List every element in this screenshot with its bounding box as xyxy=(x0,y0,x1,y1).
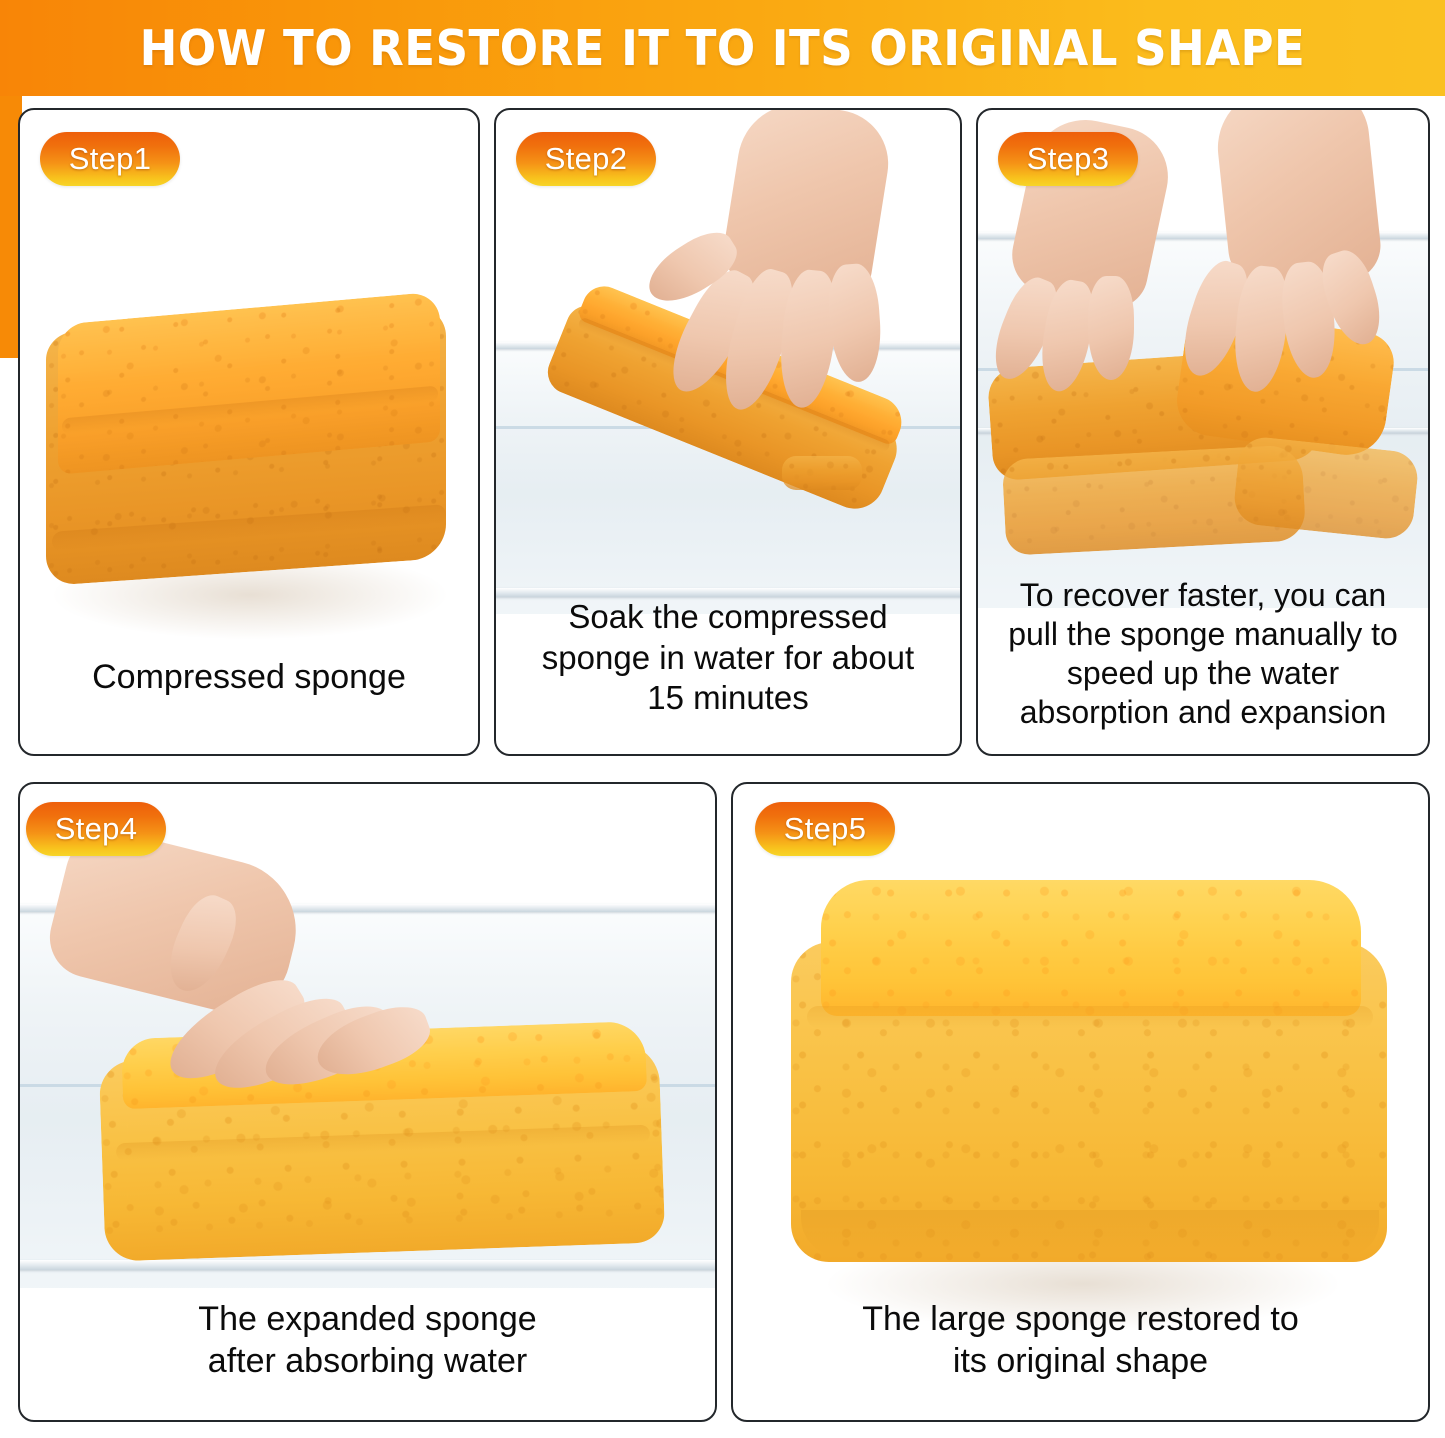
caption-line: absorption and expansion xyxy=(988,693,1418,732)
step-caption-4: The expanded sponge after absorbing wate… xyxy=(30,1299,705,1382)
steps-row-bottom: Step4 The expanded sponge after absorbin… xyxy=(18,782,1430,1422)
steps-row-top: Step1 Compressed sponge xyxy=(18,108,1430,756)
step-card-4[interactable]: Step4 The expanded sponge after absorbin… xyxy=(18,782,717,1422)
step-caption-1: Compressed sponge xyxy=(30,657,468,698)
hand-image xyxy=(674,206,934,436)
step-card-3[interactable]: Step3 To recover faster, you can pull th… xyxy=(976,108,1430,756)
infographic-page: HOW TO RESTORE IT TO ITS ORIGINAL SHAPE … xyxy=(0,0,1445,1438)
finger xyxy=(1088,276,1134,380)
caption-line: The large sponge restored to xyxy=(743,1299,1418,1340)
step-badge-4: Step4 xyxy=(26,802,166,856)
step-badge-1: Step1 xyxy=(40,132,180,186)
caption-line: The expanded sponge xyxy=(30,1299,705,1340)
step-caption-2: Soak the compressed sponge in water for … xyxy=(506,597,950,718)
step-card-2[interactable]: Step2 Soak the compressed sponge in wate… xyxy=(494,108,962,756)
tank-rim-bottom xyxy=(496,588,960,597)
hand-image xyxy=(56,868,476,1108)
caption-line: Soak the compressed xyxy=(506,597,950,637)
sponge-fragment xyxy=(782,456,862,490)
caption-line: pull the sponge manually to xyxy=(988,615,1418,654)
caption-line: after absorbing water xyxy=(30,1341,705,1382)
header-banner: HOW TO RESTORE IT TO ITS ORIGINAL SHAPE xyxy=(0,0,1445,96)
caption-line: To recover faster, you can xyxy=(988,576,1418,615)
step-caption-3: To recover faster, you can pull the spon… xyxy=(988,576,1418,732)
caption-line: speed up the water xyxy=(988,654,1418,693)
step-card-1[interactable]: Step1 Compressed sponge xyxy=(18,108,480,756)
caption-line: 15 minutes xyxy=(506,678,950,718)
hand-image-right xyxy=(1174,196,1404,416)
step-badge-5: Step5 xyxy=(755,802,895,856)
hand-image-left xyxy=(992,214,1192,414)
finger xyxy=(826,262,884,383)
step-badge-3: Step3 xyxy=(998,132,1138,186)
step-badge-2: Step2 xyxy=(516,132,656,186)
caption-line: its original shape xyxy=(743,1341,1418,1382)
page-title: HOW TO RESTORE IT TO ITS ORIGINAL SHAPE xyxy=(140,24,1306,73)
restored-sponge-image xyxy=(791,880,1391,1280)
step-card-5[interactable]: Step5 The large sponge restored to its o… xyxy=(731,782,1430,1422)
caption-line: sponge in water for about xyxy=(506,638,950,678)
step-caption-5: The large sponge restored to its origina… xyxy=(743,1299,1418,1382)
compressed-sponge-image xyxy=(42,306,450,606)
